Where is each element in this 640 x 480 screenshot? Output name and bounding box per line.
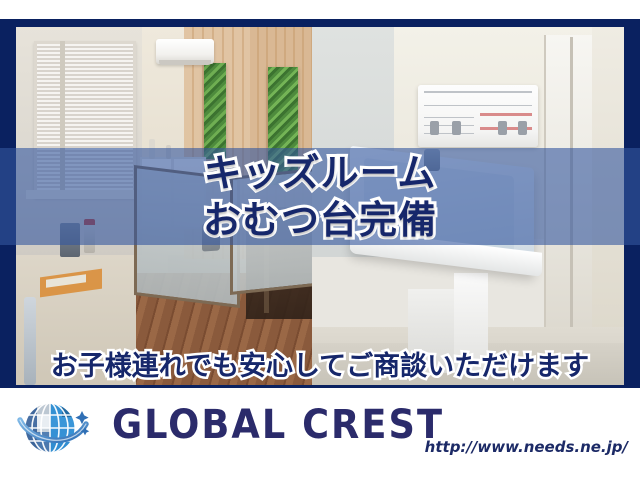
- placard-highlight-1: [480, 113, 532, 116]
- green-plant-panel-1: [204, 63, 226, 159]
- placard-line-3: [424, 117, 474, 118]
- placard-pictogram-3: [498, 121, 507, 135]
- headline-block: キッズルーム おむつ台完備: [0, 148, 640, 245]
- caption-text: お子様連れでも安心してご商談いただけます: [51, 350, 589, 384]
- placard-pictogram-1: [430, 121, 439, 135]
- caption-block: お子様連れでも安心してご商談いただけます: [0, 348, 640, 386]
- instruction-placard: [418, 85, 538, 147]
- footer-bar: GLOBAL CREST http://www.needs.ne.jp/: [0, 388, 640, 480]
- globe-icon: [14, 394, 98, 462]
- dealer-promo-banner: キッズルーム おむつ台完備 お子様連れでも安心してご商談いただけます: [0, 0, 640, 480]
- website-url[interactable]: http://www.needs.ne.jp/: [425, 438, 628, 456]
- placard-line-1: [424, 91, 532, 93]
- brand-wordmark: GLOBAL CREST: [112, 402, 444, 448]
- placard-pictogram-2: [452, 121, 461, 135]
- placard-pictogram-4: [518, 121, 527, 135]
- placard-line-2: [424, 105, 532, 106]
- top-white-strip: [0, 0, 640, 19]
- air-conditioner-vent: [159, 60, 211, 65]
- headline-line-1: キッズルーム: [204, 151, 437, 196]
- headline-line-2: おむつ台完備: [203, 198, 437, 243]
